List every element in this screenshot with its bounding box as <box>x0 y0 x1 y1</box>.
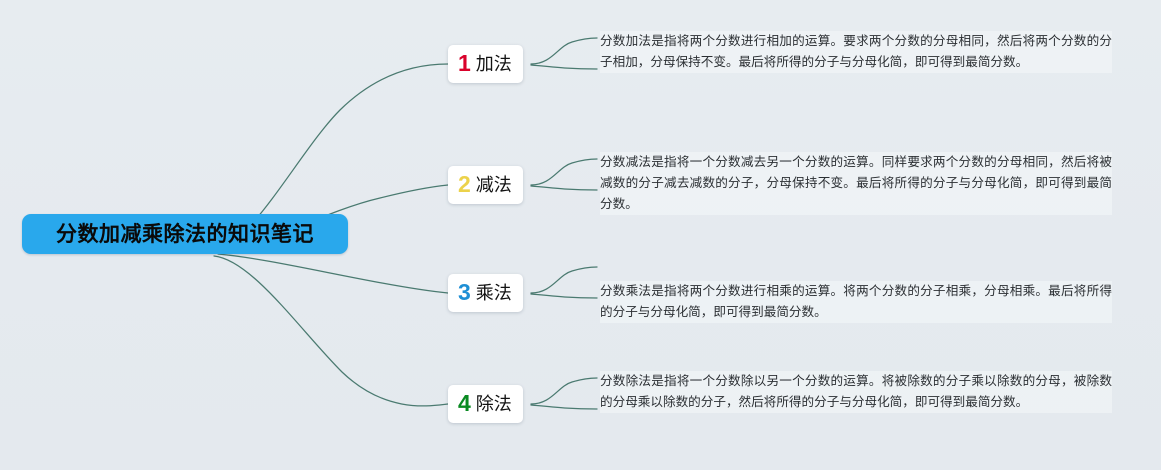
connector-branch-1-detail-curve <box>531 38 597 64</box>
root-node[interactable]: 分数加减乘除法的知识笔记 <box>22 214 348 254</box>
branch-title-3: 乘法 <box>476 284 512 302</box>
connector-branch-1-detail-flat <box>531 65 597 69</box>
branch-node-2[interactable]: 2 减法 <box>448 166 523 204</box>
branch-number-4: 4 <box>458 392 471 415</box>
connector-root-to-branch-3 <box>218 254 448 293</box>
connector-branch-3-detail-curve <box>531 267 597 293</box>
branch-node-3[interactable]: 3 乘法 <box>448 274 523 312</box>
connector-branch-4-detail-flat <box>531 405 597 409</box>
branch-node-4[interactable]: 4 除法 <box>448 385 523 423</box>
connector-branch-3-detail-flat <box>531 294 597 298</box>
branch-number-2: 2 <box>458 173 471 196</box>
root-node-label: 分数加减乘除法的知识笔记 <box>56 224 314 245</box>
branch-detail-3: 分数乘法是指将两个分数进行相乘的运算。将两个分数的分子相乘，分母相乘。最后将所得… <box>600 281 1112 323</box>
branch-title-4: 除法 <box>476 395 512 413</box>
mindmap-canvas: 分数加减乘除法的知识笔记 1 加法 分数加法是指将两个分数进行相加的运算。要求两… <box>0 0 1161 470</box>
connector-branch-2-detail-curve <box>531 159 597 185</box>
connector-root-to-branch-4 <box>214 256 448 406</box>
branch-detail-1: 分数加法是指将两个分数进行相加的运算。要求两个分数的分母相同，然后将两个分数的分… <box>600 31 1112 73</box>
connector-branch-2-detail-flat <box>531 186 597 190</box>
branch-title-1: 加法 <box>476 55 512 73</box>
branch-number-3: 3 <box>458 281 471 304</box>
branch-number-1: 1 <box>458 52 471 75</box>
branch-detail-2: 分数减法是指将一个分数减去另一个分数的运算。同样要求两个分数的分母相同，然后将被… <box>600 152 1112 215</box>
branch-title-2: 减法 <box>476 176 512 194</box>
branch-detail-4: 分数除法是指将一个分数除以另一个分数的运算。将被除数的分子乘以除数的分母，被除数… <box>600 371 1112 413</box>
connector-branch-4-detail-curve <box>531 378 597 404</box>
branch-node-1[interactable]: 1 加法 <box>448 45 523 83</box>
